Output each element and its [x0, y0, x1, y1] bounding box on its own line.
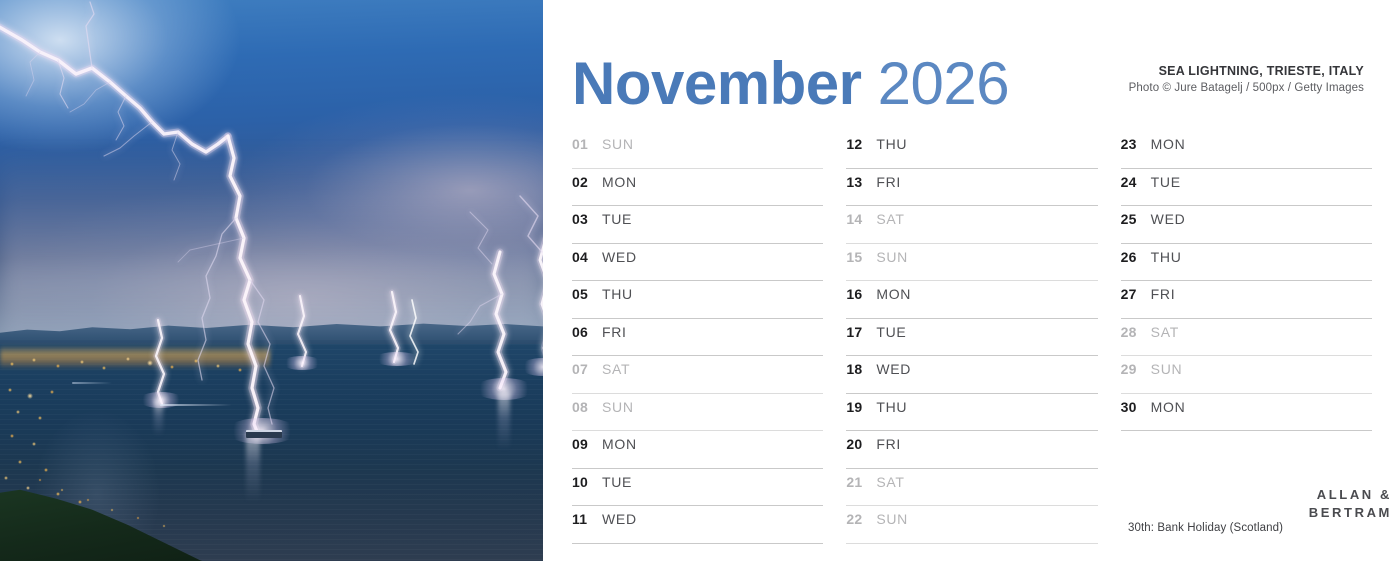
day-row[interactable]: 30MON — [1121, 394, 1372, 432]
day-columns: 01SUN02MON03TUE04WED05THU06FRI07SAT08SUN… — [572, 131, 1372, 551]
boat-wake — [160, 404, 232, 406]
strike-flash — [282, 356, 322, 370]
day-weekday: WED — [876, 361, 911, 377]
day-number: 08 — [572, 399, 602, 415]
day-weekday: SAT — [876, 474, 904, 490]
day-row[interactable]: 29SUN — [1121, 356, 1372, 394]
year-label: 2026 — [878, 50, 1009, 117]
day-weekday: THU — [1151, 249, 1182, 265]
day-number: 11 — [572, 511, 602, 527]
month-photo — [0, 0, 543, 561]
day-number: 06 — [572, 324, 602, 340]
day-weekday: FRI — [602, 324, 627, 340]
day-number: 04 — [572, 249, 602, 265]
day-row[interactable]: 17TUE — [846, 319, 1097, 357]
day-column-1: 01SUN02MON03TUE04WED05THU06FRI07SAT08SUN… — [572, 131, 823, 551]
day-number: 22 — [846, 511, 876, 527]
day-row[interactable]: 28SAT — [1121, 319, 1372, 357]
day-row[interactable]: 02MON — [572, 169, 823, 207]
day-weekday: THU — [602, 286, 633, 302]
day-weekday: MON — [602, 436, 637, 452]
day-row[interactable]: 20FRI — [846, 431, 1097, 469]
day-number: 18 — [846, 361, 876, 377]
day-row[interactable]: 26THU — [1121, 244, 1372, 282]
day-number: 12 — [846, 136, 876, 152]
day-number: 01 — [572, 136, 602, 152]
day-row[interactable]: 04WED — [572, 244, 823, 282]
day-weekday: MON — [602, 174, 637, 190]
day-row[interactable]: 24TUE — [1121, 169, 1372, 207]
day-row[interactable]: 05THU — [572, 281, 823, 319]
day-weekday: WED — [602, 249, 637, 265]
day-weekday: MON — [1151, 136, 1186, 152]
day-weekday: SAT — [876, 211, 904, 227]
day-number: 19 — [846, 399, 876, 415]
day-number: 15 — [846, 249, 876, 265]
day-weekday: WED — [602, 511, 637, 527]
day-row[interactable]: 12THU — [846, 131, 1097, 169]
day-row[interactable]: 22SUN — [846, 506, 1097, 544]
brand-line-1: ALLAN & — [1309, 486, 1392, 504]
day-weekday: TUE — [876, 324, 906, 340]
photo-caption: SEA LIGHTNING, TRIESTE, ITALY Photo © Ju… — [1129, 64, 1364, 94]
photo-credit: Photo © Jure Batagelj / 500px / Getty Im… — [1129, 82, 1364, 94]
day-weekday: TUE — [602, 474, 632, 490]
day-row[interactable]: 16MON — [846, 281, 1097, 319]
day-row[interactable]: 07SAT — [572, 356, 823, 394]
day-weekday: SAT — [602, 361, 630, 377]
day-weekday: SUN — [1151, 361, 1183, 377]
pier-line — [72, 382, 112, 384]
title-row: November 2026 SEA LIGHTNING, TRIESTE, IT… — [572, 52, 1372, 116]
day-number: 16 — [846, 286, 876, 302]
day-row[interactable]: 13FRI — [846, 169, 1097, 207]
day-row[interactable]: 06FRI — [572, 319, 823, 357]
day-number: 05 — [572, 286, 602, 302]
day-number: 24 — [1121, 174, 1151, 190]
day-row[interactable]: 15SUN — [846, 244, 1097, 282]
day-number: 28 — [1121, 324, 1151, 340]
water-reflection — [246, 432, 260, 502]
barge — [246, 430, 282, 438]
day-weekday: THU — [876, 399, 907, 415]
day-weekday: MON — [1151, 399, 1186, 415]
day-column-2: 12THU13FRI14SAT15SUN16MON17TUE18WED19THU… — [846, 131, 1097, 551]
holiday-note: 30th: Bank Holiday (Scotland) — [1128, 522, 1283, 534]
day-row[interactable]: 08SUN — [572, 394, 823, 432]
day-number: 30 — [1121, 399, 1151, 415]
day-row[interactable]: 21SAT — [846, 469, 1097, 507]
day-weekday: SUN — [602, 399, 634, 415]
day-number: 13 — [846, 174, 876, 190]
day-number: 07 — [572, 361, 602, 377]
day-number: 10 — [572, 474, 602, 490]
day-weekday: SUN — [602, 136, 634, 152]
day-weekday: FRI — [876, 436, 901, 452]
day-weekday: SUN — [876, 249, 908, 265]
day-row[interactable]: 10TUE — [572, 469, 823, 507]
day-number: 29 — [1121, 361, 1151, 377]
strike-flash — [374, 352, 420, 366]
brand-line-2: BERTRAM — [1309, 504, 1392, 522]
day-weekday: FRI — [1151, 286, 1176, 302]
day-row[interactable]: 23MON — [1121, 131, 1372, 169]
day-row[interactable]: 27FRI — [1121, 281, 1372, 319]
day-weekday: THU — [876, 136, 907, 152]
day-row[interactable]: 19THU — [846, 394, 1097, 432]
photo-title: SEA LIGHTNING, TRIESTE, ITALY — [1129, 64, 1364, 78]
day-row[interactable]: 03TUE — [572, 206, 823, 244]
page-title: November 2026 — [572, 52, 1009, 116]
brand-logo: ALLAN & BERTRAM — [1309, 486, 1392, 522]
day-number: 14 — [846, 211, 876, 227]
day-row[interactable]: 09MON — [572, 431, 823, 469]
day-number: 27 — [1121, 286, 1151, 302]
day-number: 23 — [1121, 136, 1151, 152]
day-number: 09 — [572, 436, 602, 452]
water-reflection — [498, 392, 510, 450]
day-row[interactable]: 11WED — [572, 506, 823, 544]
day-weekday: MON — [876, 286, 911, 302]
day-row[interactable]: 18WED — [846, 356, 1097, 394]
day-row[interactable]: 25WED — [1121, 206, 1372, 244]
day-weekday: SAT — [1151, 324, 1179, 340]
day-row[interactable]: 14SAT — [846, 206, 1097, 244]
day-number: 17 — [846, 324, 876, 340]
day-weekday: TUE — [1151, 174, 1181, 190]
calendar-panel: November 2026 SEA LIGHTNING, TRIESTE, IT… — [543, 0, 1400, 561]
day-number: 21 — [846, 474, 876, 490]
lightning-bolts-icon — [0, 0, 543, 561]
day-number: 25 — [1121, 211, 1151, 227]
day-weekday: TUE — [602, 211, 632, 227]
day-weekday: WED — [1151, 211, 1186, 227]
calendar-page: November 2026 SEA LIGHTNING, TRIESTE, IT… — [0, 0, 1400, 561]
day-number: 02 — [572, 174, 602, 190]
day-row[interactable]: 01SUN — [572, 131, 823, 169]
day-weekday: FRI — [876, 174, 901, 190]
day-number: 20 — [846, 436, 876, 452]
day-number: 26 — [1121, 249, 1151, 265]
day-number: 03 — [572, 211, 602, 227]
month-label: November — [572, 50, 861, 117]
day-weekday: SUN — [876, 511, 908, 527]
